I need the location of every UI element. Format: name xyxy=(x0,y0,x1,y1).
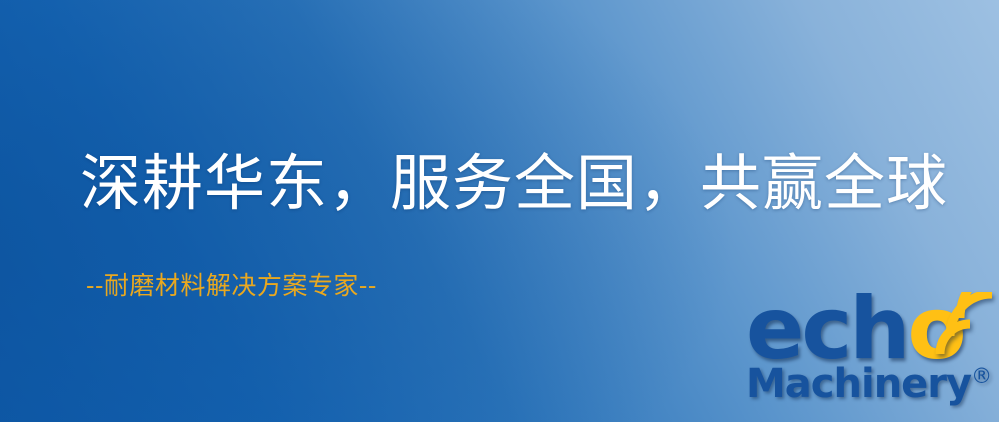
signal-waves-icon xyxy=(926,292,996,358)
echo-machinery-logo[interactable]: echo Machinery® xyxy=(744,292,994,418)
promo-banner: 深耕华东，服务全国，共赢全球 --耐磨材料解决方案专家-- echo Machi… xyxy=(0,0,999,422)
banner-headline: 深耕华东，服务全国，共赢全球 xyxy=(80,152,948,216)
registered-trademark-icon: ® xyxy=(971,364,992,388)
logo-tagline-text: Machinery xyxy=(746,361,971,407)
banner-subtitle: --耐磨材料解决方案专家-- xyxy=(86,266,377,302)
logo-tagline: Machinery® xyxy=(746,364,992,404)
